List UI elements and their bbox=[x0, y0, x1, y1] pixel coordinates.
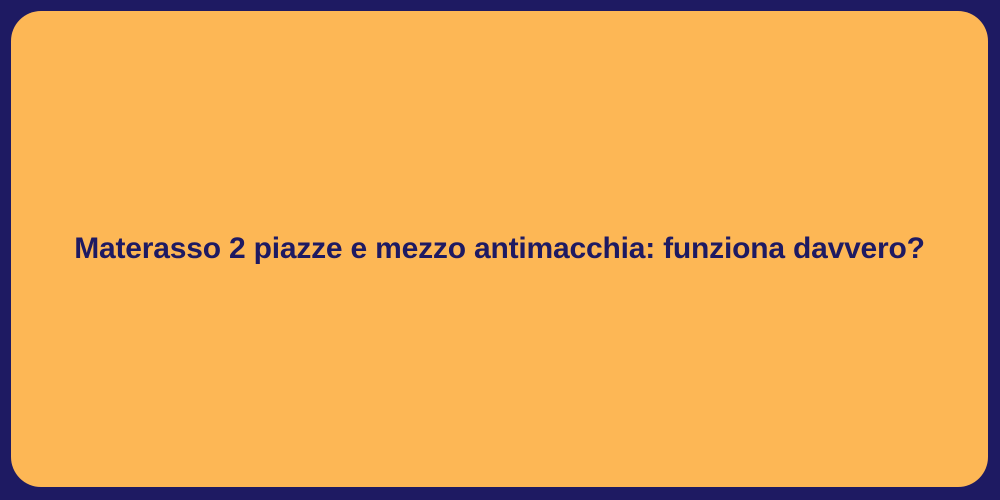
headline-card-panel: Materasso 2 piazze e mezzo antimacchia: … bbox=[11, 11, 988, 487]
page-title: Materasso 2 piazze e mezzo antimacchia: … bbox=[74, 230, 925, 268]
outer-frame: Materasso 2 piazze e mezzo antimacchia: … bbox=[0, 0, 1000, 500]
